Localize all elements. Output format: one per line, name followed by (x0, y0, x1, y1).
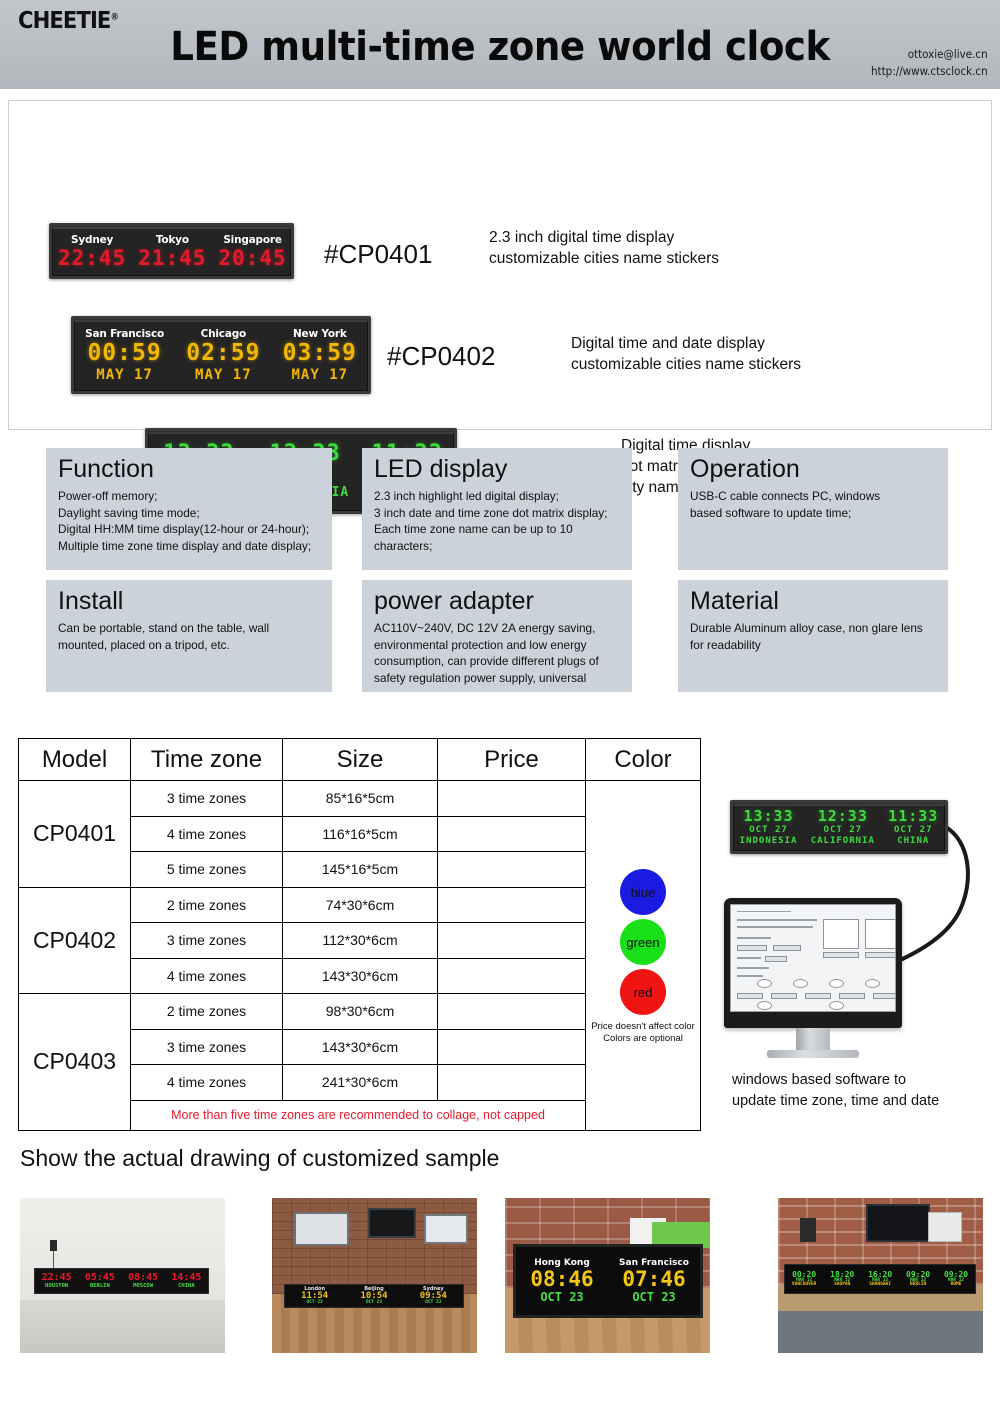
coffee-machine-object (800, 1218, 816, 1242)
date-readout: OCT 23 (307, 1301, 323, 1306)
time-zone-module: San Francisco 07:46 OCT 23 (608, 1247, 700, 1315)
time-readout: 03:59 (283, 342, 357, 365)
date-readout: MAY 17 (291, 368, 348, 382)
date-readout: OCT 23 (366, 1301, 382, 1306)
color-label: green (626, 935, 659, 950)
monitor-stand-base (767, 1050, 859, 1058)
time-zone-module: Sydney 09:54 OCT 23 (420, 1287, 447, 1306)
product-display-cp0401: Sydney 22:45 Tokyo 21:45 Singapore 20:45 (49, 223, 294, 279)
time-readout: 00:59 (87, 342, 161, 365)
time-zone-module: Tokyo 21:45 (132, 226, 212, 276)
city-readout: HOUSTON (45, 1284, 68, 1290)
photo-led-clock: 22:45 HOUSTON 05:45 BERLIN 08:45 MOSCOW … (34, 1268, 209, 1294)
time-zone-module: 16:20 MAR 12 SHANGHAI (868, 1271, 892, 1288)
time-readout: 11:33 (888, 809, 938, 824)
time-zone-module: Beijing 10:54 OCT 23 (360, 1287, 387, 1306)
city-readout: MOSCOW (133, 1284, 153, 1290)
samples-section-title: Show the actual drawing of customized sa… (20, 1145, 499, 1172)
time-zone-module: 00:20 MAR 12 VANCOUVER (792, 1271, 816, 1288)
city-readout: INDONESIA (740, 837, 798, 846)
timezone-cell: 4 time zones (131, 1065, 283, 1101)
time-zone-module: 13:33 OCT 27 INDONESIA (734, 803, 804, 851)
time-zone-module: 22:45 HOUSTON (42, 1273, 72, 1290)
feature-card-led-display: LED display 2.3 inch highlight led digit… (362, 448, 632, 570)
time-readout: 08:45 (128, 1273, 158, 1283)
city-readout: CALIFORNIA (811, 837, 875, 846)
time-zone-module: 11:33 OCT 27 CHINA (882, 803, 944, 851)
feature-card-install: Install Can be portable, stand on the ta… (46, 580, 332, 692)
date-readout: OCT 27 (894, 826, 933, 835)
model-cell-cp0402: CP0402 (19, 887, 131, 994)
sample-photo-1: 22:45 HOUSTON 05:45 BERLIN 08:45 MOSCOW … (20, 1198, 225, 1353)
time-readout: 21:45 (138, 248, 206, 269)
time-zone-module: Hong Kong 08:46 OCT 23 (516, 1247, 608, 1315)
time-zone-module: Chicago 02:59 MAY 17 (180, 319, 266, 391)
monitor-bezel (724, 898, 902, 1028)
size-cell: 116*16*5cm (283, 816, 438, 852)
feature-body: 2.3 inch highlight led digital display; … (374, 488, 622, 554)
time-zone-module: Sydney 22:45 (52, 226, 132, 276)
size-cell: 85*16*5cm (283, 781, 438, 817)
contact-info: ottoxie@live.cn http://www.ctsclock.cn (871, 46, 988, 80)
city-readout: CHINA (178, 1284, 195, 1290)
power-plug-icon (50, 1240, 57, 1251)
timezone-cell: 2 time zones (131, 994, 283, 1030)
contact-website: http://www.ctsclock.cn (871, 63, 988, 80)
printer-object (928, 1212, 962, 1242)
color-options-cell: blue green red Price doesn't affect colo… (586, 781, 701, 1131)
color-note-line: Price doesn't affect color (586, 1021, 700, 1033)
time-readout: 05:45 (85, 1273, 115, 1283)
date-readout: OCT 23 (425, 1301, 441, 1306)
date-readout: OCT 27 (749, 826, 788, 835)
time-zone-module: London 11:54 OCT 23 (301, 1287, 328, 1306)
time-readout: 07:46 (622, 1269, 685, 1290)
price-cell (438, 887, 586, 923)
time-zone-module: 05:45 BERLIN (85, 1273, 115, 1290)
city-sticker: Tokyo (156, 234, 189, 246)
price-cell (438, 852, 586, 888)
product-code-cp0401: #CP0401 (324, 239, 432, 270)
color-label: red (634, 985, 653, 1000)
feature-body: Power-off memory; Daylight saving time m… (58, 488, 322, 554)
price-cell (438, 994, 586, 1030)
column-header-model: Model (19, 739, 131, 781)
city-sticker: Sydney (71, 234, 113, 246)
feature-title: Operation (690, 456, 938, 482)
feature-body: USB-C cable connects PC, windows based s… (690, 488, 938, 521)
size-cell: 145*16*5cm (283, 852, 438, 888)
photo-floor-background (20, 1300, 225, 1353)
photo-led-clock: 00:20 MAR 12 VANCOUVER 18:20 MAR 12 SAOP… (784, 1264, 976, 1294)
description-line: customizable cities name stickers (489, 248, 719, 269)
description-line: customizable cities name stickers (571, 354, 801, 375)
city-sticker: Chicago (201, 328, 246, 340)
city-readout: SAOPAN (834, 1283, 850, 1288)
software-illustration: 13:33 OCT 27 INDONESIA 12:33 OCT 27 CALI… (712, 770, 992, 1120)
photo-led-clock: Hong Kong 08:46 OCT 23 San Francisco 07:… (513, 1244, 703, 1318)
feature-title: Function (58, 456, 322, 482)
time-zone-module: San Francisco 00:59 MAY 17 (79, 319, 170, 391)
table-footer-note: More than five time zones are recommende… (131, 1100, 586, 1130)
date-readout: OCT 27 (824, 826, 863, 835)
time-readout: 12:33 (818, 809, 868, 824)
city-readout: CHINA (897, 837, 929, 846)
whiteboard-object (294, 1212, 349, 1246)
time-zone-module: New York 03:59 MAY 17 (277, 319, 363, 391)
feature-body: Durable Aluminum alloy case, non glare l… (690, 620, 938, 653)
color-note-line: Colors are optional (586, 1033, 700, 1045)
city-sticker: San Francisco (85, 328, 164, 340)
city-readout: BERLIN (90, 1284, 110, 1290)
monitor-screen (730, 904, 896, 1012)
whiteboard-object (424, 1214, 468, 1244)
timezone-cell: 3 time zones (131, 923, 283, 959)
time-zone-module: 18:20 MAR 12 SAOPAN (830, 1271, 854, 1288)
size-cell: 112*30*6cm (283, 923, 438, 959)
illustration-caption: windows based software to update time zo… (732, 1070, 992, 1112)
city-readout: SHANGHAI (869, 1283, 891, 1288)
time-readout: 22:45 (58, 248, 126, 269)
pc-monitor-illustration (724, 898, 902, 1058)
city-sticker: Singapore (223, 234, 281, 246)
photo-led-clock: London 11:54 OCT 23 Beijing 10:54 OCT 23… (284, 1284, 464, 1308)
time-zone-module: 09:20 MAR 12 BERLIN (906, 1271, 930, 1288)
feature-body: Can be portable, stand on the table, wal… (58, 620, 322, 653)
color-swatch-red[interactable]: red (620, 969, 666, 1015)
monitor-stand-neck (796, 1028, 830, 1050)
city-readout: ROME (951, 1283, 962, 1288)
feature-title: Install (58, 588, 322, 614)
column-header-color: Color (586, 739, 701, 781)
feature-card-function: Function Power-off memory; Daylight savi… (46, 448, 332, 570)
price-cell (438, 958, 586, 994)
page-title: LED multi-time zone world clock (35, 24, 965, 70)
feature-card-material: Material Durable Aluminum alloy case, no… (678, 580, 948, 692)
price-cell (438, 1029, 586, 1065)
products-panel: Sydney 22:45 Tokyo 21:45 Singapore 20:45… (8, 100, 992, 430)
size-cell: 143*30*6cm (283, 958, 438, 994)
feature-card-power-adapter: power adapter AC110V~240V, DC 12V 2A ene… (362, 580, 632, 692)
date-readout: OCT 23 (632, 1291, 675, 1303)
timezone-cell: 3 time zones (131, 781, 283, 817)
timezone-cell: 3 time zones (131, 1029, 283, 1065)
column-header-size: Size (283, 739, 438, 781)
date-readout: MAY 17 (195, 368, 252, 382)
price-cell (438, 1065, 586, 1101)
tv-object (368, 1208, 416, 1238)
time-zone-module: Singapore 20:45 (212, 226, 292, 276)
time-readout: 02:59 (186, 342, 260, 365)
description-line: Digital time and date display (571, 333, 801, 354)
table-header-row: Model Time zone Size Price Color (19, 739, 701, 781)
color-note: Price doesn't affect color Colors are op… (586, 1021, 700, 1045)
timezone-cell: 5 time zones (131, 852, 283, 888)
caption-line: update time zone, time and date (732, 1091, 992, 1112)
sample-photo-2: London 11:54 OCT 23 Beijing 10:54 OCT 23… (272, 1198, 477, 1353)
registered-mark-icon: ® (110, 12, 117, 22)
product-code-cp0402: #CP0402 (387, 341, 495, 372)
timezone-cell: 2 time zones (131, 887, 283, 923)
price-cell (438, 781, 586, 817)
city-readout: VANCOUVER (792, 1283, 816, 1288)
model-cell-cp0401: CP0401 (19, 781, 131, 888)
time-zone-module: 12:33 OCT 27 CALIFORNIA (805, 803, 881, 851)
feature-title: Material (690, 588, 938, 614)
color-swatch-green[interactable]: green (620, 919, 666, 965)
column-header-price: Price (438, 739, 586, 781)
size-cell: 74*30*6cm (283, 887, 438, 923)
time-readout: 13:33 (743, 809, 793, 824)
feature-body: AC110V~240V, DC 12V 2A energy saving, en… (374, 620, 622, 686)
color-label: blue (631, 885, 656, 900)
reception-desk-object (778, 1285, 983, 1353)
feature-title: power adapter (374, 588, 622, 614)
city-sticker: New York (293, 328, 347, 340)
specification-table: Model Time zone Size Price Color CP0401 … (18, 738, 701, 1131)
feature-card-operation: Operation USB-C cable connects PC, windo… (678, 448, 948, 570)
color-swatch-blue[interactable]: blue (620, 869, 666, 915)
size-cell: 241*30*6cm (283, 1065, 438, 1101)
column-header-time-zone: Time zone (131, 739, 283, 781)
time-zone-module: 08:45 MOSCOW (128, 1273, 158, 1290)
caption-line: windows based software to (732, 1070, 992, 1091)
size-cell: 98*30*6cm (283, 994, 438, 1030)
city-readout: BERLIN (910, 1283, 926, 1288)
time-zone-module: 09:20 MAR 12 ROME (944, 1271, 968, 1288)
product-description-cp0402: Digital time and date display customizab… (571, 333, 801, 375)
date-readout: MAY 17 (96, 368, 153, 382)
timezone-cell: 4 time zones (131, 816, 283, 852)
time-zone-module: 14:45 CHINA (171, 1273, 201, 1290)
contact-email: ottoxie@live.cn (871, 46, 988, 63)
feature-title: LED display (374, 456, 622, 482)
product-display-cp0402: San Francisco 00:59 MAY 17 Chicago 02:59… (71, 316, 371, 394)
model-cell-cp0403: CP0403 (19, 994, 131, 1131)
time-readout: 22:45 (42, 1273, 72, 1283)
time-readout: 14:45 (171, 1273, 201, 1283)
date-readout: OCT 23 (540, 1291, 583, 1303)
price-cell (438, 923, 586, 959)
price-cell (438, 816, 586, 852)
timezone-cell: 4 time zones (131, 958, 283, 994)
sample-photo-3: Hong Kong 08:46 OCT 23 San Francisco 07:… (505, 1198, 710, 1353)
description-line: 2.3 inch digital time display (489, 227, 719, 248)
sample-photo-4: 00:20 MAR 12 VANCOUVER 18:20 MAR 12 SAOP… (778, 1198, 983, 1353)
time-readout: 20:45 (218, 248, 286, 269)
product-description-cp0401: 2.3 inch digital time display customizab… (489, 227, 719, 269)
time-readout: 08:46 (530, 1269, 593, 1290)
tv-object (866, 1204, 930, 1242)
page-header: CHEETIE® LED multi-time zone world clock… (0, 0, 1000, 92)
table-row: CP0401 3 time zones 85*16*5cm blue green… (19, 781, 701, 817)
size-cell: 143*30*6cm (283, 1029, 438, 1065)
illustration-led-clock: 13:33 OCT 27 INDONESIA 12:33 OCT 27 CALI… (730, 800, 948, 854)
